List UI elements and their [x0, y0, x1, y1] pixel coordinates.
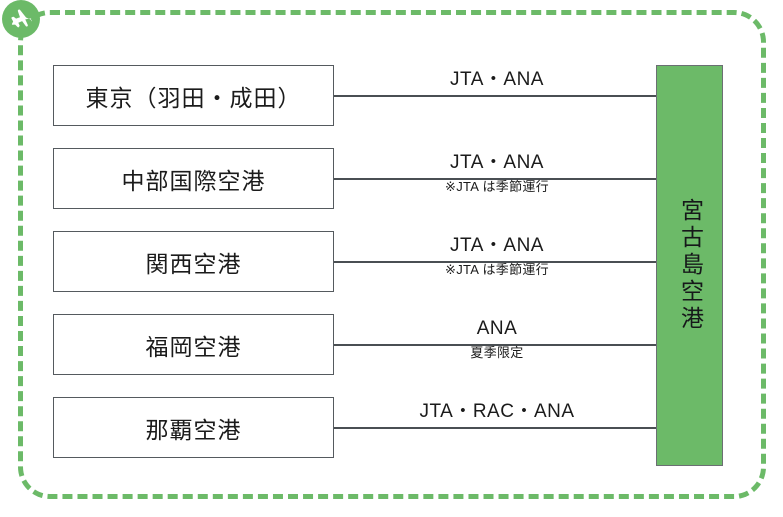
origin-box-tokyo[interactable]: 東京（羽田・成田）	[53, 65, 334, 126]
route-map: 東京（羽田・成田） JTA・ANA 中部国際空港 JTA・ANA ※JTA は季…	[0, 0, 783, 517]
route-label-tokyo: JTA・ANA	[338, 70, 656, 90]
origin-label: 中部国際空港	[122, 162, 266, 196]
route-carriers: JTA・RAC・ANA	[338, 402, 656, 422]
origin-label: 那覇空港	[146, 411, 242, 445]
destination-label: 宮古島空港	[673, 198, 707, 333]
connector-line-naha	[334, 427, 657, 429]
route-carriers: JTA・ANA	[338, 236, 656, 256]
route-note: ※JTA は季節運行	[338, 179, 656, 195]
origin-box-naha[interactable]: 那覇空港	[53, 397, 334, 458]
route-carriers: JTA・ANA	[338, 153, 656, 173]
origin-label: 福岡空港	[146, 328, 242, 362]
diagram-canvas: 東京（羽田・成田） JTA・ANA 中部国際空港 JTA・ANA ※JTA は季…	[0, 0, 783, 517]
route-note: 夏季限定	[338, 345, 656, 361]
route-note: ※JTA は季節運行	[338, 262, 656, 278]
route-carriers: JTA・ANA	[338, 70, 656, 90]
route-label-fukuoka: ANA 夏季限定	[338, 319, 656, 361]
route-carriers: ANA	[338, 319, 656, 339]
origin-box-fukuoka[interactable]: 福岡空港	[53, 314, 334, 375]
origin-label: 関西空港	[146, 245, 242, 279]
route-label-kansai: JTA・ANA ※JTA は季節運行	[338, 236, 656, 278]
origin-box-chubu[interactable]: 中部国際空港	[53, 148, 334, 209]
origin-label: 東京（羽田・成田）	[86, 79, 302, 113]
connector-line-tokyo	[334, 95, 657, 97]
origin-box-kansai[interactable]: 関西空港	[53, 231, 334, 292]
route-label-chubu: JTA・ANA ※JTA は季節運行	[338, 153, 656, 195]
destination-bar-miyakojima[interactable]: 宮古島空港	[656, 65, 723, 466]
route-label-naha: JTA・RAC・ANA	[338, 402, 656, 422]
